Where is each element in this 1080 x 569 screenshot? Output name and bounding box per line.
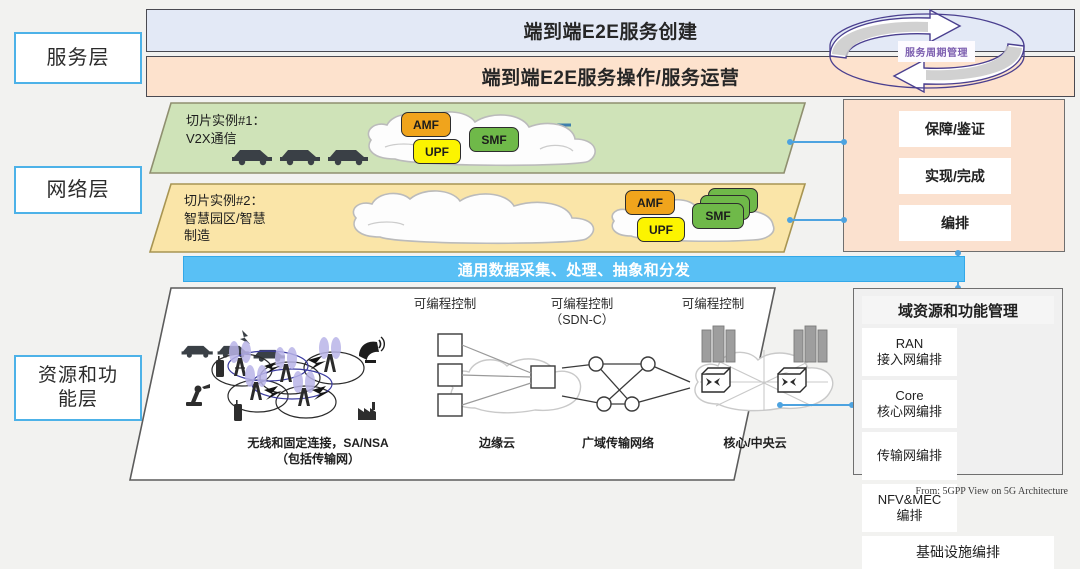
core-cloud-icon-group — [682, 326, 842, 426]
network-mgmt-item-assurance[interactable]: 保障/鉴证 — [899, 111, 1011, 147]
domain-resource-mgmt-grid: RAN 接入网编排 Core 核心网编排 传输网编排 NFV&MEC 编排 基础… — [862, 328, 1054, 569]
network-mgmt-panel: 保障/鉴证 实现/完成 编排 — [843, 99, 1065, 252]
connector-slice1-mgmt — [790, 141, 844, 143]
slice-2-title: 切片实例#2： 智慧园区/智慧 制造 — [184, 192, 266, 245]
network-mgmt-item-fulfillment-label: 实现/完成 — [925, 166, 985, 186]
slice-instance-2: 切片实例#2： 智慧园区/智慧 制造 AMF UPF SMF — [150, 184, 805, 252]
data-collection-bar: 通用数据采集、处理、抽象和分发 — [183, 256, 965, 282]
slice-instance-1: 切片实例#1： V2X通信 AMF UPF SMF — [150, 103, 805, 173]
network-mgmt-item-orchestration-label: 编排 — [941, 213, 969, 233]
nf-box-amf-slice2: AMF — [625, 190, 675, 215]
mgmt-cell-core[interactable]: Core 核心网编排 — [862, 380, 957, 428]
source-attribution: From: 5GPP View on 5G Architecture — [916, 486, 1068, 497]
cloud-icon-slice-2a — [340, 189, 630, 249]
nf-box-smf-slice1: SMF — [469, 127, 519, 152]
connector-resource-mgmt — [780, 404, 852, 406]
programmable-control-label-2: 可编程控制 （SDN-C） — [522, 296, 642, 329]
node-label-edge-cloud: 边缘云 — [442, 436, 552, 452]
service-lifecycle-label: 服务周期管理 — [898, 41, 975, 62]
domain-resource-mgmt-panel: 域资源和功能管理 RAN 接入网编排 Core 核心网编排 传输网编排 NFV&… — [853, 288, 1063, 475]
nf-box-upf-slice1-label: UPF — [425, 145, 449, 159]
nf-box-amf-slice1: AMF — [401, 112, 451, 137]
nf-box-smf-slice1-label: SMF — [481, 133, 506, 147]
connector-dot-slice2 — [787, 217, 793, 223]
node-label-wan: 广域传输网络 — [538, 436, 698, 452]
nf-box-amf-slice2-label: AMF — [637, 196, 663, 210]
layer-label-resource: 资源和功 能层 — [14, 355, 142, 421]
nf-box-smf-slice2: SMF — [692, 203, 744, 229]
service-creation-bar-text: 端到端E2E服务创建 — [524, 17, 698, 44]
diagram-canvas: 服务层 网络层 资源和功 能层 端到端E2E服务创建 端到端E2E服务操作/服务… — [0, 0, 1080, 501]
nf-box-smf-slice2-label: SMF — [705, 209, 730, 223]
layer-label-service-text: 服务层 — [47, 46, 110, 71]
layer-label-service: 服务层 — [14, 32, 142, 84]
programmable-control-label-3: 可编程控制 — [658, 296, 768, 312]
connector-dot-mgmt-left-2 — [841, 217, 847, 223]
node-label-access: 无线和固定连接，SA/NSA （包括传输网） — [218, 436, 418, 467]
connector-dot-slice1 — [787, 139, 793, 145]
layer-label-network-text: 网络层 — [47, 178, 110, 203]
mgmt-cell-transport[interactable]: 传输网编排 — [862, 432, 957, 480]
network-mgmt-item-fulfillment[interactable]: 实现/完成 — [899, 158, 1011, 194]
network-mgmt-item-assurance-label: 保障/鉴证 — [925, 119, 985, 139]
nf-box-upf-slice2: UPF — [637, 217, 685, 242]
nf-box-amf-slice1-label: AMF — [413, 118, 439, 132]
connector-dot-mgmt-left-1 — [841, 139, 847, 145]
mgmt-cell-infrastructure[interactable]: 基础设施编排 — [862, 536, 1054, 569]
resource-layer-panel: 可编程控制 可编程控制 （SDN-C） 可编程控制 — [130, 288, 775, 480]
layer-label-resource-text: 资源和功 能层 — [38, 364, 118, 412]
domain-resource-mgmt-title: 域资源和功能管理 — [862, 296, 1054, 324]
connector-slice2-mgmt — [790, 219, 844, 221]
nf-box-upf-slice2-label: UPF — [649, 223, 673, 237]
data-collection-bar-text: 通用数据采集、处理、抽象和分发 — [458, 259, 691, 280]
programmable-control-label-1: 可编程控制 — [390, 296, 500, 312]
wan-mesh-icon-group — [562, 348, 692, 418]
access-network-icon-group — [172, 320, 442, 430]
layer-label-network: 网络层 — [14, 166, 142, 214]
connector-dot-resource — [777, 402, 783, 408]
network-mgmt-item-orchestration[interactable]: 编排 — [899, 205, 1011, 241]
service-operation-bar-text: 端到端E2E服务操作/服务运营 — [482, 63, 740, 90]
slice-1-title: 切片实例#1： V2X通信 — [186, 112, 265, 147]
nf-box-upf-slice1: UPF — [413, 139, 461, 164]
node-label-core-cloud: 核心/中央云 — [690, 436, 820, 452]
mgmt-cell-ran[interactable]: RAN 接入网编排 — [862, 328, 957, 376]
